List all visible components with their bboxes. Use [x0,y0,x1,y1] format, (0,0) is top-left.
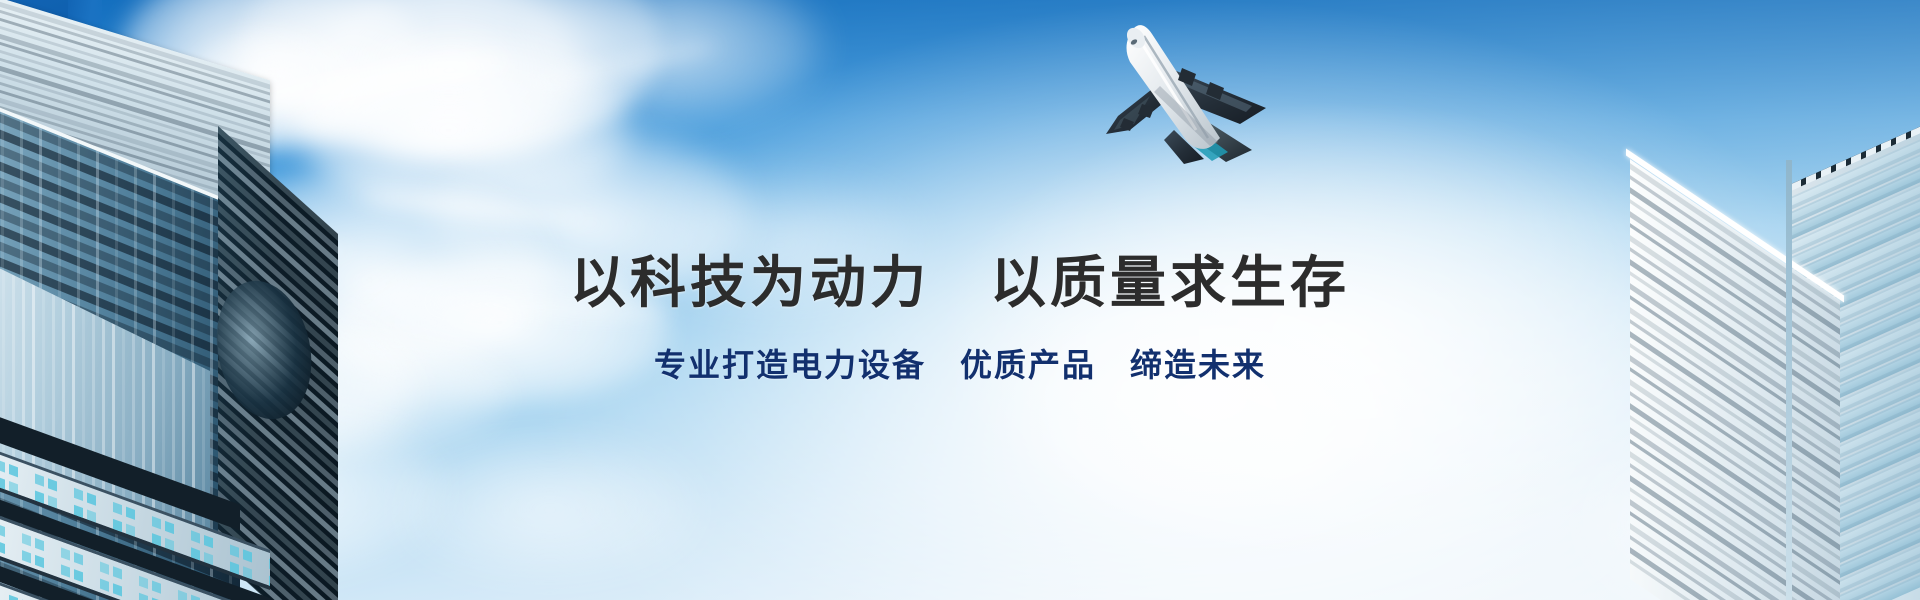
airplane [1100,12,1300,177]
airplane-icon [1100,12,1300,177]
left-lower-building [0,300,330,600]
right-white-skyscraper [1590,170,1920,600]
banner-headline: 以科技为动力 以质量求生存 [0,252,1920,314]
banner-subtitle: 专业打造电力设备 优质产品 缔造未来 [0,346,1920,384]
hero-banner: 以科技为动力 以质量求生存 专业打造电力设备 优质产品 缔造未来 [0,0,1920,600]
